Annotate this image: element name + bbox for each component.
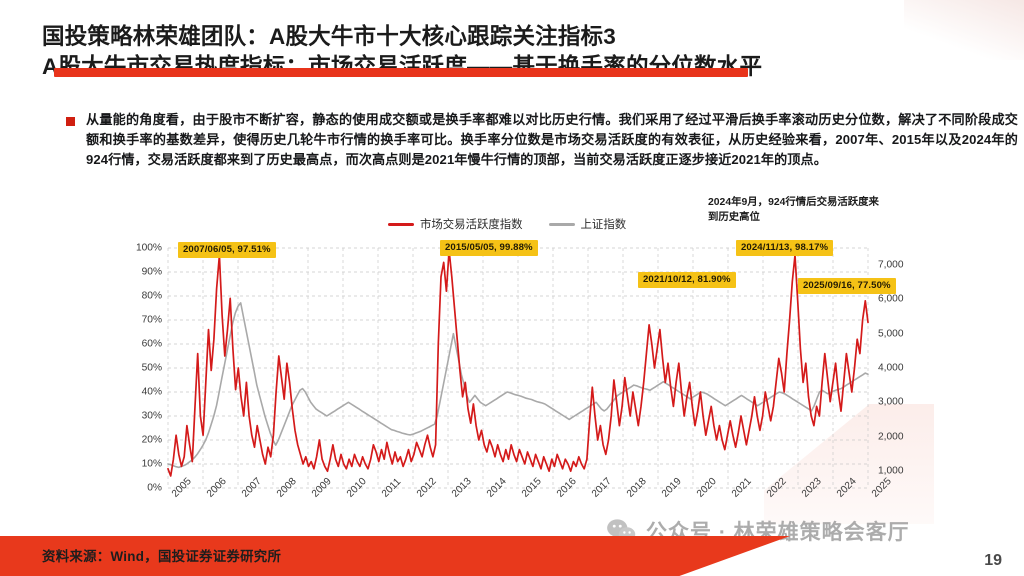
- y-tick-left: 20%: [142, 435, 162, 446]
- chart-annotation-label: 2024/11/13, 98.17%: [736, 240, 833, 256]
- y-tick-left: 90%: [142, 267, 162, 278]
- y-tick-left: 40%: [142, 387, 162, 398]
- y-tick-right: 3,000: [878, 397, 904, 408]
- chart-container: 2024年9月，924行情后交易活跃度来到历史高位 市场交易活跃度指数 上证指数…: [120, 196, 950, 536]
- y-tick-right: 5,000: [878, 328, 904, 339]
- chart-callout-note: 2024年9月，924行情后交易活跃度来到历史高位: [708, 196, 888, 225]
- y-tick-left: 70%: [142, 315, 162, 326]
- chart-svg: [168, 248, 868, 488]
- y-tick-left: 60%: [142, 339, 162, 350]
- title-underline: [54, 68, 748, 77]
- y-tick-right: 4,000: [878, 363, 904, 374]
- chart-annotation-label: 2015/05/05, 99.88%: [440, 240, 538, 256]
- y-tick-left: 0%: [147, 483, 162, 494]
- y-tick-right: 7,000: [878, 260, 904, 271]
- body-paragraph-block: 从量能的角度看，由于股市不断扩容，静态的使用成交额或是换手率都难以对比历史行情。…: [66, 110, 1018, 170]
- chart-annotation-label: 2007/06/05, 97.51%: [178, 242, 276, 258]
- slide: 国投策略林荣雄团队：A股大牛市十大核心跟踪关注指标3 A股大牛市交易热度指标：市…: [0, 0, 1024, 576]
- body-paragraph: 从量能的角度看，由于股市不断扩容，静态的使用成交额或是换手率都难以对比历史行情。…: [86, 110, 1018, 170]
- legend-label-activity: 市场交易活跃度指数: [420, 216, 523, 232]
- x-axis: 2005200620072008200920102011201220132014…: [168, 492, 868, 536]
- square-bullet-icon: [66, 117, 75, 126]
- title-line-1: 国投策略林荣雄团队：A股大牛市十大核心跟踪关注指标3: [42, 22, 1002, 52]
- legend-swatch-activity: [388, 223, 414, 226]
- y-tick-left: 30%: [142, 411, 162, 422]
- y-tick-right: 6,000: [878, 294, 904, 305]
- chart-legend: 市场交易活跃度指数 上证指数: [388, 216, 626, 232]
- chart-plot-area: [168, 248, 868, 488]
- y-tick-left: 50%: [142, 363, 162, 374]
- y-tick-left: 10%: [142, 459, 162, 470]
- legend-swatch-index: [549, 223, 575, 226]
- source-note: 资料来源：Wind，国投证券证券研究所: [42, 545, 281, 565]
- y-tick-left: 80%: [142, 291, 162, 302]
- chart-annotation-label: 2025/09/16, 77.50%: [798, 278, 896, 294]
- page-number: 19: [984, 552, 1002, 570]
- y-tick-left: 100%: [136, 243, 162, 254]
- y-tick-right: 2,000: [878, 431, 904, 442]
- chart-annotation-label: 2021/10/12, 81.90%: [638, 272, 736, 288]
- y-tick-right: 1,000: [878, 465, 904, 476]
- legend-item-index: 上证指数: [549, 216, 627, 232]
- y-axis-left: 0%10%20%30%40%50%60%70%80%90%100%: [120, 248, 162, 488]
- legend-label-index: 上证指数: [581, 216, 627, 232]
- legend-item-activity: 市场交易活跃度指数: [388, 216, 523, 232]
